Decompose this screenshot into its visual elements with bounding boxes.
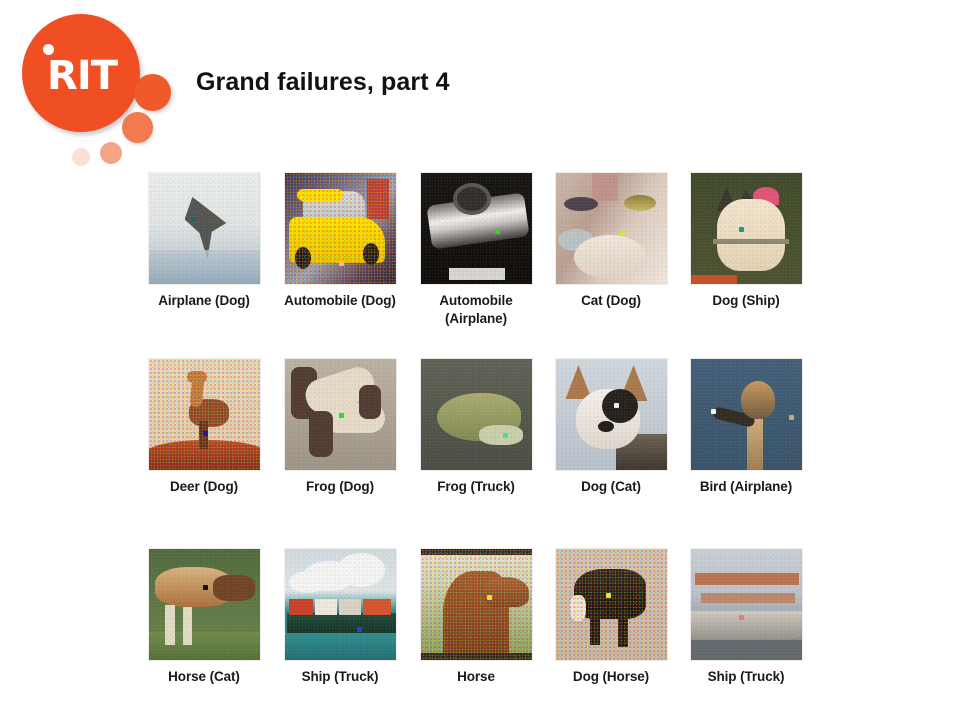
image-caption: Deer (Dog) xyxy=(136,478,272,496)
logo-wordmark: RIT xyxy=(32,54,132,102)
logo-bubble-5 xyxy=(72,148,90,166)
grid-cell-ship-truck-1[interactable]: Ship (Truck) xyxy=(272,546,408,686)
image-caption: Dog (Cat) xyxy=(543,478,679,496)
perturbation-dot xyxy=(606,593,611,598)
perturbation-dot xyxy=(191,217,196,222)
grid-cell-bird-airplane[interactable]: Bird (Airplane) xyxy=(678,356,814,496)
grid-cell-airplane-dog[interactable]: Airplane (Dog) xyxy=(136,170,272,310)
grid-cell-horse-cat[interactable]: Horse (Cat) xyxy=(136,546,272,686)
perturbation-dot xyxy=(357,627,362,632)
slide-header: RIT Grand failures, part 4 xyxy=(0,0,960,160)
perturbation-dot xyxy=(339,413,344,418)
thumbnail-deer[interactable] xyxy=(148,358,261,471)
grid-cell-ship-truck-2[interactable]: Ship (Truck) xyxy=(678,546,814,686)
image-caption: Airplane (Dog) xyxy=(136,292,272,310)
grid-cell-cat-dog[interactable]: Cat (Dog) xyxy=(543,170,679,310)
thumbnail-bird[interactable] xyxy=(690,358,803,471)
thumbnail-automobile-yellow[interactable] xyxy=(284,172,397,285)
logo-bubble-2 xyxy=(134,74,171,111)
perturbation-dot xyxy=(339,261,344,266)
thumbnail-horse-field[interactable] xyxy=(148,548,261,661)
page-title: Grand failures, part 4 xyxy=(196,68,450,97)
perturbation-dot xyxy=(614,403,619,408)
grid-row: Airplane (Dog) Automobile (Dog) xyxy=(136,170,836,356)
grid-cell-dog-ship[interactable]: Dog (Ship) xyxy=(678,170,814,310)
logo-bubble-4 xyxy=(100,142,122,164)
perturbation-dot xyxy=(495,229,500,234)
thumbnail-automobile-mono[interactable] xyxy=(420,172,533,285)
thumbnail-boat[interactable] xyxy=(690,548,803,661)
perturbation-dot-secondary xyxy=(789,415,794,420)
image-caption: Frog (Truck) xyxy=(408,478,544,496)
irit-logo: RIT xyxy=(14,8,184,163)
grid-cell-automobile-dog[interactable]: Automobile (Dog) xyxy=(272,170,408,310)
grid-cell-automobile-airplane[interactable]: Automobile (Airplane) xyxy=(408,170,544,328)
image-caption: Dog (Horse) xyxy=(543,668,679,686)
logo-bubble-3 xyxy=(122,112,153,143)
grid-cell-frog-dog[interactable]: Frog (Dog) xyxy=(272,356,408,496)
thumbnail-frog-green[interactable] xyxy=(420,358,533,471)
thumbnail-horse-head[interactable] xyxy=(420,548,533,661)
image-caption: Dog (Ship) xyxy=(678,292,814,310)
perturbation-dot xyxy=(203,431,208,436)
grid-cell-dog-horse[interactable]: Dog (Horse) xyxy=(543,546,679,686)
image-caption: Cat (Dog) xyxy=(543,292,679,310)
image-grid: Airplane (Dog) Automobile (Dog) xyxy=(136,170,836,721)
grid-cell-horse[interactable]: Horse xyxy=(408,546,544,686)
image-caption: Horse xyxy=(408,668,544,686)
image-caption: Horse (Cat) xyxy=(136,668,272,686)
thumbnail-dog-white[interactable] xyxy=(690,172,803,285)
thumbnail-airplane[interactable] xyxy=(148,172,261,285)
image-caption: Automobile (Airplane) xyxy=(408,292,544,328)
image-caption: Ship (Truck) xyxy=(272,668,408,686)
thumbnail-container-ship[interactable] xyxy=(284,548,397,661)
perturbation-dot xyxy=(620,231,625,236)
image-caption: Frog (Dog) xyxy=(272,478,408,496)
perturbation-dot xyxy=(203,585,208,590)
perturbation-dot xyxy=(739,615,744,620)
thumbnail-dog-black[interactable] xyxy=(555,548,668,661)
grid-cell-dog-cat[interactable]: Dog (Cat) xyxy=(543,356,679,496)
thumbnail-chihuahua[interactable] xyxy=(555,358,668,471)
thumbnail-frog-pale[interactable] xyxy=(284,358,397,471)
grid-row: Horse (Cat) Ship (Truck) xyxy=(136,546,836,721)
perturbation-dot xyxy=(487,595,492,600)
image-caption: Automobile (Dog) xyxy=(272,292,408,310)
image-caption: Ship (Truck) xyxy=(678,668,814,686)
image-caption: Bird (Airplane) xyxy=(678,478,814,496)
grid-cell-frog-truck[interactable]: Frog (Truck) xyxy=(408,356,544,496)
grid-cell-deer-dog[interactable]: Deer (Dog) xyxy=(136,356,272,496)
perturbation-dot xyxy=(711,409,716,414)
grid-row: Deer (Dog) Frog (Dog) xyxy=(136,356,836,546)
perturbation-dot xyxy=(503,433,508,438)
perturbation-dot xyxy=(739,227,744,232)
thumbnail-cat[interactable] xyxy=(555,172,668,285)
